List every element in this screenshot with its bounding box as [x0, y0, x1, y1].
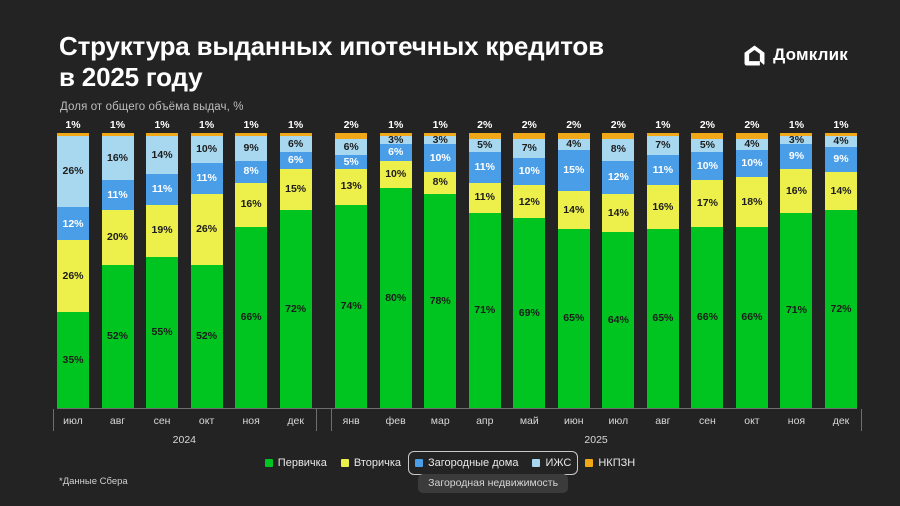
bar-segment-ИЖС[interactable]: 3%: [380, 136, 412, 144]
bar-segment-Первичка[interactable]: 65%: [647, 229, 679, 408]
bar-segment-Первичка[interactable]: 64%: [602, 232, 634, 408]
bar-segment-Первичка[interactable]: 52%: [191, 265, 223, 408]
source-footnote: *Данные Сбера: [59, 476, 128, 487]
segment-value-label: 9%: [833, 154, 848, 165]
bar-segment-ИЖС[interactable]: 4%: [736, 139, 768, 150]
segment-value-label: 66%: [241, 312, 262, 323]
segment-value-label: 3%: [388, 136, 403, 144]
segment-value-label: 19%: [152, 225, 173, 236]
bar-segment-Загородные дома[interactable]: 11%: [647, 155, 679, 185]
title-line-2: в 2025 году: [59, 62, 699, 93]
bar-segment-Первичка[interactable]: 71%: [469, 213, 501, 408]
bar-2025-ноя[interactable]: 3%9%16%71%: [780, 133, 812, 408]
bar-segment-Вторичка[interactable]: 16%: [780, 169, 812, 213]
x-tick-2024-дек: дек: [274, 415, 318, 427]
x-tick-2025-окт: окт: [730, 415, 774, 427]
segment-value-label: 10%: [519, 166, 540, 177]
segment-value-label: 16%: [107, 153, 128, 164]
bar-2025-фев[interactable]: 3%6%10%80%: [380, 133, 412, 408]
segment-value-label: 14%: [152, 150, 173, 161]
top-value-label: 2%: [691, 120, 723, 131]
bar-2025-мар[interactable]: 3%10%8%78%: [424, 133, 456, 408]
bar-segment-Первичка[interactable]: 66%: [736, 227, 768, 409]
bar-segment-Первичка[interactable]: 69%: [513, 218, 545, 408]
segment-value-label: 4%: [833, 136, 848, 147]
legend-item-label: Первичка: [278, 457, 327, 469]
bar-2025-авг[interactable]: 7%11%16%65%: [647, 133, 679, 408]
bar-2024-июл[interactable]: 26%12%26%35%: [57, 133, 89, 408]
bar-segment-Первичка[interactable]: 66%: [691, 227, 723, 409]
top-value-label: 1%: [280, 120, 312, 131]
segment-value-label: 7%: [522, 143, 537, 154]
segment-value-label: 11%: [196, 173, 216, 184]
bar-segment-Загородные дома[interactable]: 9%: [825, 147, 857, 172]
segment-value-label: 52%: [107, 331, 128, 342]
bar-2024-ноя[interactable]: 9%8%16%66%: [235, 133, 267, 408]
segment-value-label: 26%: [196, 224, 217, 235]
bar-segment-ИЖС[interactable]: 6%: [335, 139, 367, 156]
segment-value-label: 8%: [611, 144, 626, 155]
bar-2025-янв[interactable]: 6%5%13%74%: [335, 133, 367, 408]
segment-value-label: 11%: [107, 190, 127, 201]
bar-segment-Первичка[interactable]: 66%: [235, 227, 267, 409]
bar-segment-Первичка[interactable]: 35%: [57, 312, 89, 408]
segment-value-label: 8%: [433, 177, 448, 188]
top-value-label: 1%: [380, 120, 412, 131]
bar-segment-Вторичка[interactable]: 15%: [280, 169, 312, 210]
bar-segment-Первичка[interactable]: 80%: [380, 188, 412, 408]
bar-segment-ИЖС[interactable]: 26%: [57, 136, 89, 208]
bar-segment-Вторичка[interactable]: 20%: [102, 210, 134, 265]
segment-value-label: 16%: [652, 202, 673, 213]
x-tick-2025-сен: сен: [685, 415, 729, 427]
x-tick-2024-сен: сен: [140, 415, 184, 427]
bar-segment-Загородные дома[interactable]: 15%: [558, 150, 590, 191]
segment-value-label: 6%: [344, 142, 359, 153]
bar-2024-сен[interactable]: 14%11%19%55%: [146, 133, 178, 408]
bar-segment-Вторичка[interactable]: 10%: [380, 161, 412, 189]
legend-swatch-icon: [532, 459, 540, 467]
x-tick-2024-окт: окт: [185, 415, 229, 427]
bar-segment-Вторичка[interactable]: 26%: [191, 194, 223, 266]
segment-value-label: 64%: [608, 315, 629, 326]
segment-value-label: 52%: [196, 331, 217, 342]
segment-value-label: 66%: [741, 312, 762, 323]
bar-segment-ИЖС[interactable]: 3%: [424, 136, 456, 144]
top-value-label: 1%: [780, 120, 812, 131]
bar-2025-дек[interactable]: 4%9%14%72%: [825, 133, 857, 408]
bar-segment-Загородные дома[interactable]: 12%: [602, 161, 634, 194]
segment-value-label: 10%: [741, 158, 762, 169]
bar-segment-ИЖС[interactable]: 9%: [235, 136, 267, 161]
top-value-label: 1%: [146, 120, 178, 131]
legend-swatch-icon: [415, 459, 423, 467]
top-value-label: 2%: [335, 120, 367, 131]
segment-value-label: 4%: [566, 139, 581, 150]
bar-segment-Первичка[interactable]: 72%: [825, 210, 857, 408]
segment-value-label: 7%: [655, 140, 670, 151]
legend-swatch-icon: [265, 459, 273, 467]
legend-group-label: Загородная недвижимость: [418, 474, 568, 493]
bar-segment-ИЖС[interactable]: 7%: [647, 136, 679, 155]
bar-segment-Первичка[interactable]: 71%: [780, 213, 812, 408]
bar-segment-Первичка[interactable]: 74%: [335, 205, 367, 409]
bar-segment-Первичка[interactable]: 52%: [102, 265, 134, 408]
bar-segment-ИЖС[interactable]: 6%: [280, 136, 312, 153]
bar-segment-Загородные дома[interactable]: 5%: [335, 155, 367, 169]
top-value-label: 2%: [558, 120, 590, 131]
bar-segment-Загородные дома[interactable]: 6%: [380, 144, 412, 161]
segment-value-label: 15%: [563, 165, 584, 176]
bar-segment-Вторичка[interactable]: 14%: [558, 191, 590, 230]
bar-segment-Загородные дома[interactable]: 12%: [57, 207, 89, 240]
bar-segment-ИЖС[interactable]: 4%: [558, 139, 590, 150]
bar-2025-окт[interactable]: 4%10%18%66%: [736, 133, 768, 408]
x-tick-2024-июл: июл: [51, 415, 95, 427]
legend-item-Загородные дома[interactable]: Загородные дома: [415, 457, 518, 469]
bar-segment-Загородные дома[interactable]: 10%: [736, 150, 768, 178]
segment-value-label: 78%: [430, 296, 451, 307]
bar-2025-июл[interactable]: 8%12%14%64%: [602, 133, 634, 408]
segment-value-label: 4%: [744, 139, 759, 150]
x-tick-2025-авг: авг: [641, 415, 685, 427]
bar-segment-Вторичка[interactable]: 16%: [647, 185, 679, 229]
legend-item-label: ИЖС: [545, 457, 571, 469]
segment-value-label: 26%: [62, 166, 83, 177]
year-group-divider: [316, 409, 317, 431]
bar-segment-Вторичка[interactable]: 14%: [602, 194, 634, 233]
legend-item-НКПЗН[interactable]: НКПЗН: [585, 457, 635, 469]
bar-segment-Загородные дома[interactable]: 11%: [102, 180, 134, 210]
x-tick-2025-дек: дек: [819, 415, 863, 427]
segment-value-label: 71%: [474, 305, 495, 316]
bar-segment-Загородные дома[interactable]: 9%: [780, 144, 812, 169]
segment-value-label: 8%: [244, 166, 259, 177]
bar-segment-Загородные дома[interactable]: 6%: [280, 152, 312, 169]
segment-value-label: 20%: [107, 232, 128, 243]
x-tick-2025-ноя: ноя: [774, 415, 818, 427]
segment-value-label: 74%: [341, 301, 362, 312]
segment-value-label: 14%: [608, 208, 629, 219]
house-icon: [743, 44, 766, 67]
segment-value-label: 66%: [697, 312, 718, 323]
x-tick-2025-июн: июн: [552, 415, 596, 427]
legend-swatch-icon: [341, 459, 349, 467]
bar-segment-Вторичка[interactable]: 13%: [335, 169, 367, 205]
x-tick-2025-мар: мар: [418, 415, 462, 427]
bar-2024-окт[interactable]: 10%11%26%52%: [191, 133, 223, 408]
bar-segment-Вторичка[interactable]: 11%: [469, 183, 501, 213]
bar-segment-Вторичка[interactable]: 18%: [736, 177, 768, 227]
brand-logo: Домклик: [743, 42, 848, 68]
segment-value-label: 17%: [697, 198, 718, 209]
segment-value-label: 16%: [241, 199, 262, 210]
stacked-bar-plot: 26%12%26%35%1%16%11%20%52%1%14%11%19%55%…: [57, 133, 857, 408]
top-value-label: 1%: [235, 120, 267, 131]
segment-value-label: 11%: [653, 165, 673, 176]
legend-item-label: Загородные дома: [428, 457, 518, 469]
segment-value-label: 9%: [244, 143, 259, 154]
bar-2024-дек[interactable]: 6%6%15%72%: [280, 133, 312, 408]
segment-value-label: 6%: [288, 155, 303, 166]
segment-value-label: 69%: [519, 308, 540, 319]
title-line-1: Структура выданных ипотечных кредитов: [59, 31, 699, 62]
bar-segment-ИЖС[interactable]: 14%: [146, 136, 178, 175]
bar-2025-апр[interactable]: 5%11%11%71%: [469, 133, 501, 408]
legend-item-Вторичка[interactable]: Вторичка: [341, 457, 401, 469]
bar-segment-ИЖС[interactable]: 8%: [602, 139, 634, 161]
bar-2025-сен[interactable]: 5%10%17%66%: [691, 133, 723, 408]
legend-item-label: НКПЗН: [598, 457, 635, 469]
segment-value-label: 72%: [285, 304, 306, 315]
bar-segment-Вторичка[interactable]: 16%: [235, 183, 267, 227]
year-group-label-2025: 2025: [331, 434, 861, 446]
x-tick-2025-янв: янв: [329, 415, 373, 427]
bar-segment-Вторичка[interactable]: 14%: [825, 172, 857, 211]
bar-2025-май[interactable]: 7%10%12%69%: [513, 133, 545, 408]
bar-segment-Вторичка[interactable]: 17%: [691, 180, 723, 227]
bar-segment-Загородные дома[interactable]: 11%: [146, 174, 178, 204]
x-tick-2024-авг: авг: [96, 415, 140, 427]
segment-value-label: 18%: [741, 197, 762, 208]
bar-segment-ИЖС[interactable]: 16%: [102, 136, 134, 180]
segment-value-label: 10%: [196, 144, 217, 155]
bar-segment-Загородные дома[interactable]: 10%: [424, 144, 456, 172]
year-group-divider: [861, 409, 862, 431]
bar-segment-ИЖС[interactable]: 5%: [469, 139, 501, 153]
segment-value-label: 11%: [475, 192, 495, 203]
segment-value-label: 71%: [786, 305, 807, 316]
x-tick-2025-апр: апр: [463, 415, 507, 427]
segment-value-label: 55%: [152, 327, 173, 338]
top-value-label: 1%: [424, 120, 456, 131]
segment-value-label: 9%: [789, 151, 804, 162]
segment-value-label: 26%: [62, 271, 83, 282]
top-value-label: 2%: [469, 120, 501, 131]
brand-name: Домклик: [773, 45, 848, 65]
segment-value-label: 12%: [62, 219, 83, 230]
legend-item-label: Вторичка: [354, 457, 401, 469]
bar-segment-Вторичка[interactable]: 26%: [57, 240, 89, 312]
x-tick-2025-май: май: [507, 415, 551, 427]
segment-value-label: 14%: [563, 205, 584, 216]
segment-value-label: 5%: [477, 140, 492, 151]
segment-value-label: 6%: [288, 139, 303, 150]
segment-value-label: 11%: [152, 184, 172, 195]
bar-segment-Вторичка[interactable]: 8%: [424, 172, 456, 194]
segment-value-label: 5%: [344, 157, 359, 168]
bar-segment-ИЖС[interactable]: 10%: [191, 136, 223, 164]
segment-value-label: 65%: [652, 313, 673, 324]
bar-segment-ИЖС[interactable]: 7%: [513, 139, 545, 158]
segment-value-label: 12%: [608, 172, 629, 183]
legend-swatch-icon: [585, 459, 593, 467]
bar-segment-Загородные дома[interactable]: 11%: [191, 163, 223, 193]
x-tick-2025-июл: июл: [596, 415, 640, 427]
bar-segment-Первичка[interactable]: 72%: [280, 210, 312, 408]
bar-segment-Первичка[interactable]: 65%: [558, 229, 590, 408]
top-value-label: 1%: [647, 120, 679, 131]
segment-value-label: 16%: [786, 186, 807, 197]
segment-value-label: 10%: [385, 169, 406, 180]
segment-value-label: 6%: [388, 147, 403, 158]
bar-segment-Загородные дома[interactable]: 8%: [235, 161, 267, 183]
legend-item-ИЖС[interactable]: ИЖС: [532, 457, 571, 469]
legend-item-Первичка[interactable]: Первичка: [265, 457, 327, 469]
segment-value-label: 13%: [341, 181, 362, 192]
page-title: Структура выданных ипотечных кредитов в …: [59, 31, 699, 93]
bar-2025-июн[interactable]: 4%15%14%65%: [558, 133, 590, 408]
segment-value-label: 15%: [285, 184, 306, 195]
chart-canvas: Структура выданных ипотечных кредитов в …: [0, 0, 900, 506]
bar-segment-ИЖС[interactable]: 5%: [691, 139, 723, 153]
segment-value-label: 11%: [475, 162, 495, 173]
segment-value-label: 10%: [697, 161, 718, 172]
top-value-label: 2%: [513, 120, 545, 131]
chart-subtitle: Доля от общего объёма выдач, %: [60, 101, 244, 113]
top-value-label: 1%: [191, 120, 223, 131]
bar-2024-авг[interactable]: 16%11%20%52%: [102, 133, 134, 408]
segment-value-label: 72%: [830, 304, 851, 315]
top-value-label: 2%: [736, 120, 768, 131]
top-value-label: 2%: [602, 120, 634, 131]
x-tick-2025-фев: фев: [374, 415, 418, 427]
year-group-divider: [53, 409, 54, 431]
segment-value-label: 3%: [789, 136, 804, 144]
top-value-label: 1%: [57, 120, 89, 131]
top-value-label: 1%: [825, 120, 857, 131]
segment-value-label: 12%: [519, 197, 540, 208]
chart-legend: ПервичкаВторичкаЗагородные домаИЖСНКПЗН: [0, 455, 900, 471]
segment-value-label: 14%: [830, 186, 851, 197]
bar-segment-Загородные дома[interactable]: 10%: [513, 158, 545, 186]
bar-segment-Вторичка[interactable]: 12%: [513, 185, 545, 218]
year-group-label-2024: 2024: [53, 434, 316, 446]
segment-value-label: 65%: [563, 313, 584, 324]
top-value-label: 1%: [102, 120, 134, 131]
bar-segment-Загородные дома[interactable]: 11%: [469, 152, 501, 182]
year-group-divider: [331, 409, 332, 431]
bar-segment-Загородные дома[interactable]: 10%: [691, 152, 723, 180]
segment-value-label: 35%: [62, 355, 83, 366]
segment-value-label: 80%: [385, 293, 406, 304]
bar-segment-Вторичка[interactable]: 19%: [146, 205, 178, 257]
segment-value-label: 3%: [433, 136, 448, 144]
x-tick-2024-ноя: ноя: [229, 415, 273, 427]
segment-value-label: 5%: [700, 140, 715, 151]
segment-value-label: 10%: [430, 153, 451, 164]
x-axis-line: [57, 408, 857, 409]
bar-segment-Первичка[interactable]: 78%: [424, 194, 456, 409]
bar-segment-Первичка[interactable]: 55%: [146, 257, 178, 408]
bar-segment-ИЖС[interactable]: 4%: [825, 136, 857, 147]
bar-segment-ИЖС[interactable]: 3%: [780, 136, 812, 144]
